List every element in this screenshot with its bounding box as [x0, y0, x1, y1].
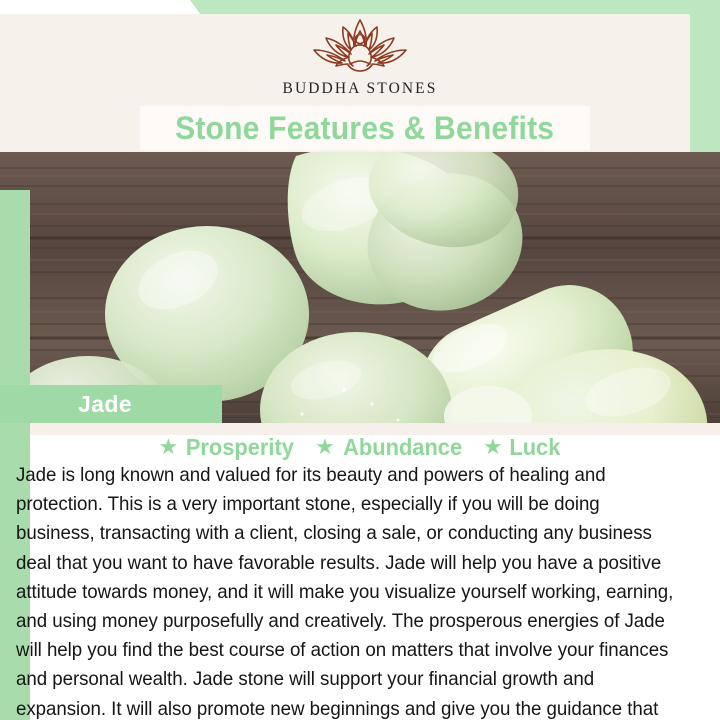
benefit-label: Prosperity [186, 434, 294, 461]
brand-name: BUDDHA STONES [283, 80, 438, 98]
stone-name-band: Jade [0, 385, 222, 423]
benefit-item-luck: ★ Luck [483, 434, 561, 461]
stone-benefits-poster: BUDDHA STONES Stone Features & Benefits [0, 0, 720, 720]
star-icon: ★ [159, 436, 179, 458]
page-title: Stone Features & Benefits [175, 110, 554, 147]
benefit-item-abundance: ★ Abundance [315, 434, 465, 461]
title-ribbon: Stone Features & Benefits [140, 106, 590, 150]
benefit-label: Luck [509, 434, 560, 461]
benefit-label: Abundance [343, 434, 462, 461]
description-text: Jade is long known and valued for its be… [16, 461, 680, 720]
jade-stones-photo [0, 152, 720, 423]
brand-logo: BUDDHA STONES [0, 16, 720, 106]
star-icon: ★ [315, 436, 335, 458]
stone-description: Jade is long known and valued for its be… [16, 461, 704, 720]
lotus-meditation-figure-icon [298, 16, 422, 78]
stone-name: Jade [78, 391, 132, 418]
benefits-row: ★ Prosperity ★ Abundance ★ Luck [30, 432, 690, 462]
star-icon: ★ [483, 436, 503, 458]
benefit-item-prosperity: ★ Prosperity [159, 434, 298, 461]
